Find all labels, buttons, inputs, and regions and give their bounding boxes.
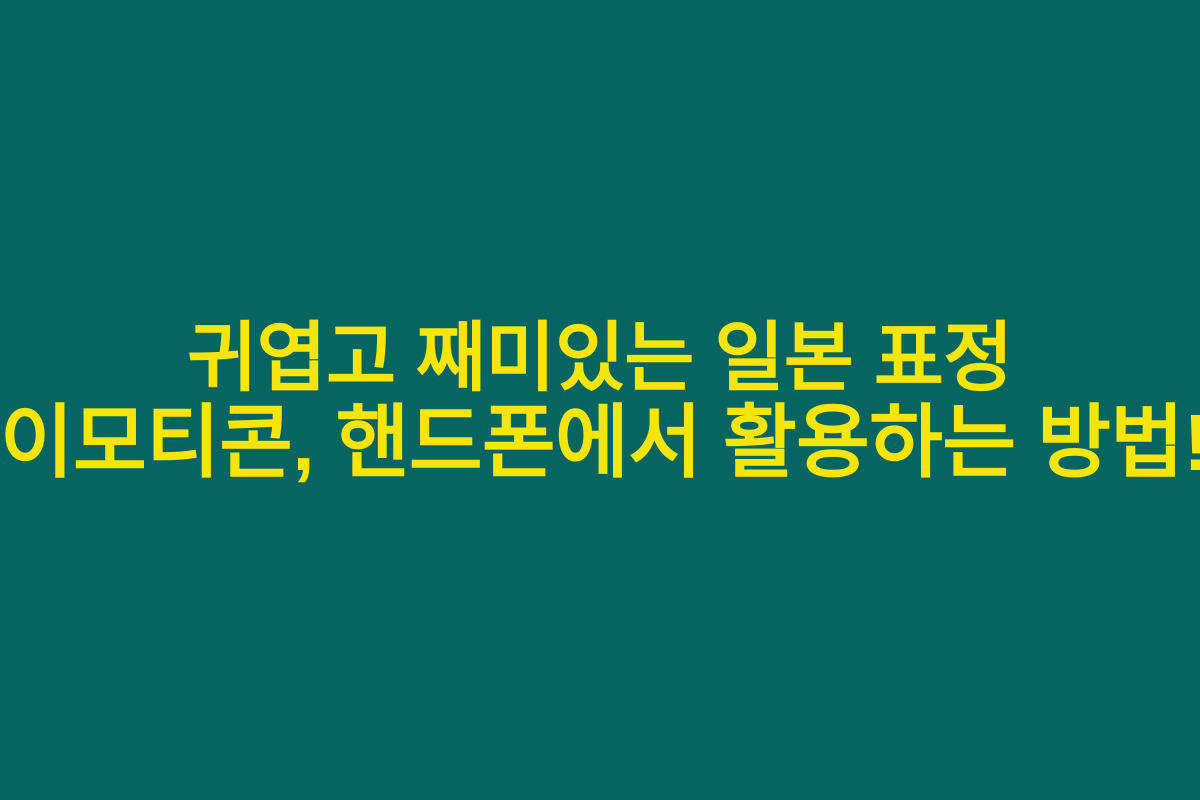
headline-line-2: 이모티콘, 핸드폰에서 활용하는 방법!	[0, 400, 1200, 486]
banner-canvas: 귀엽고 째미있는 일본 표정 이모티콘, 핸드폰에서 활용하는 방법!	[0, 0, 1200, 800]
headline-line-1: 귀엽고 째미있는 일본 표정	[0, 318, 1200, 400]
headline-block: 귀엽고 째미있는 일본 표정 이모티콘, 핸드폰에서 활용하는 방법!	[0, 0, 1200, 800]
